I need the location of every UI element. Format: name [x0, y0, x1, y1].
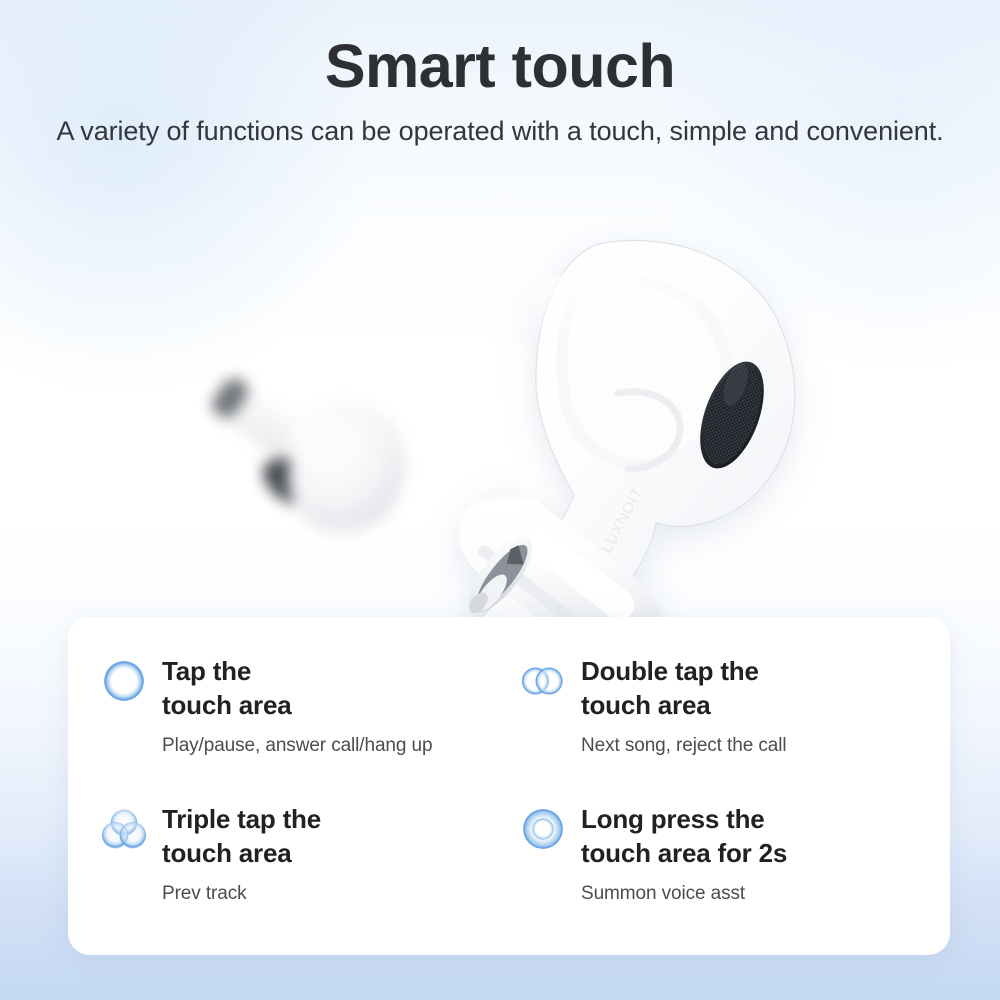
single-circle-tap-icon	[102, 659, 146, 703]
feature-description: Prev track	[162, 882, 497, 906]
page-canvas: Smart touch A variety of functions can b…	[0, 0, 1000, 1000]
feature-title: Long press the touch area for 2s	[581, 803, 916, 871]
product-artwork: LUXNOIT	[0, 200, 1000, 680]
feature-body: Triple tap the touch area Prev track	[162, 803, 497, 905]
feature-item-tap[interactable]: Tap the touch area Play/pause, answer ca…	[102, 655, 497, 779]
earbud-front-illustration: LUXNOIT	[360, 225, 830, 685]
feature-description: Play/pause, answer call/hang up	[162, 734, 497, 758]
header: Smart touch A variety of functions can b…	[0, 34, 1000, 149]
concentric-circle-long-press-icon	[521, 807, 565, 851]
feature-item-double-tap[interactable]: Double tap the touch area Next song, rej…	[521, 655, 916, 779]
feature-body: Tap the touch area Play/pause, answer ca…	[162, 655, 497, 757]
feature-card: Tap the touch area Play/pause, answer ca…	[68, 617, 950, 955]
page-subtitle: A variety of functions can be operated w…	[0, 114, 1000, 149]
feature-title: Tap the touch area	[162, 655, 497, 723]
page-title: Smart touch	[0, 34, 1000, 98]
feature-item-triple-tap[interactable]: Triple tap the touch area Prev track	[102, 803, 497, 927]
feature-title: Double tap the touch area	[581, 655, 916, 723]
feature-body: Double tap the touch area Next song, rej…	[581, 655, 916, 757]
double-circle-tap-icon	[521, 659, 565, 703]
feature-grid: Tap the touch area Play/pause, answer ca…	[102, 655, 916, 927]
feature-item-long-press[interactable]: Long press the touch area for 2s Summon …	[521, 803, 916, 927]
feature-body: Long press the touch area for 2s Summon …	[581, 803, 916, 905]
feature-title: Triple tap the touch area	[162, 803, 497, 871]
feature-description: Next song, reject the call	[581, 734, 916, 758]
triple-circle-tap-icon	[102, 807, 146, 851]
feature-description: Summon voice asst	[581, 882, 916, 906]
